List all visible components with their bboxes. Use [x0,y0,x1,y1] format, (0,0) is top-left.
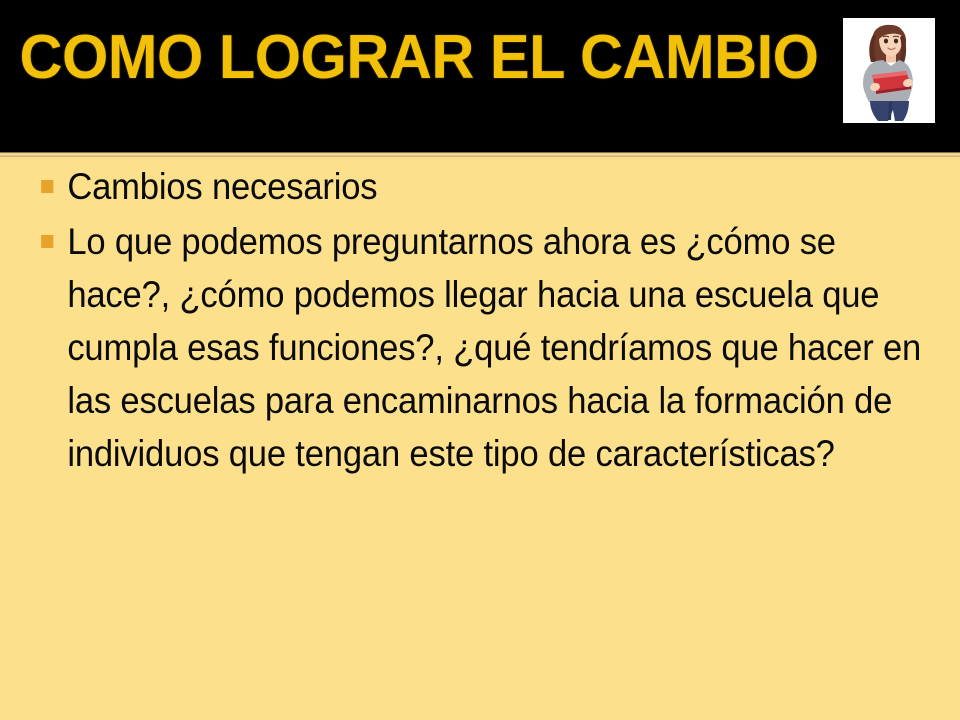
page-title: COMO LOGRAR EL CAMBIO [17,22,821,94]
list-item: Cambios necesarios [0,160,960,213]
list-item-text: Lo que podemos preguntarnos ahora es ¿có… [67,215,937,480]
square-bullet-icon [41,235,53,248]
header-divider [0,152,960,157]
square-bullet-icon [41,180,53,193]
girl-holding-book-icon [843,18,935,123]
slide: COMO LOGRAR EL CAMBIO [0,0,960,720]
title-bar: COMO LOGRAR EL CAMBIO [0,0,960,152]
list-item-text: Cambios necesarios [67,160,909,213]
slide-body: Cambios necesarios Lo que podemos pregun… [0,160,960,720]
list-item: Lo que podemos preguntarnos ahora es ¿có… [0,215,960,480]
bullet-list: Cambios necesarios Lo que podemos pregun… [0,160,960,480]
